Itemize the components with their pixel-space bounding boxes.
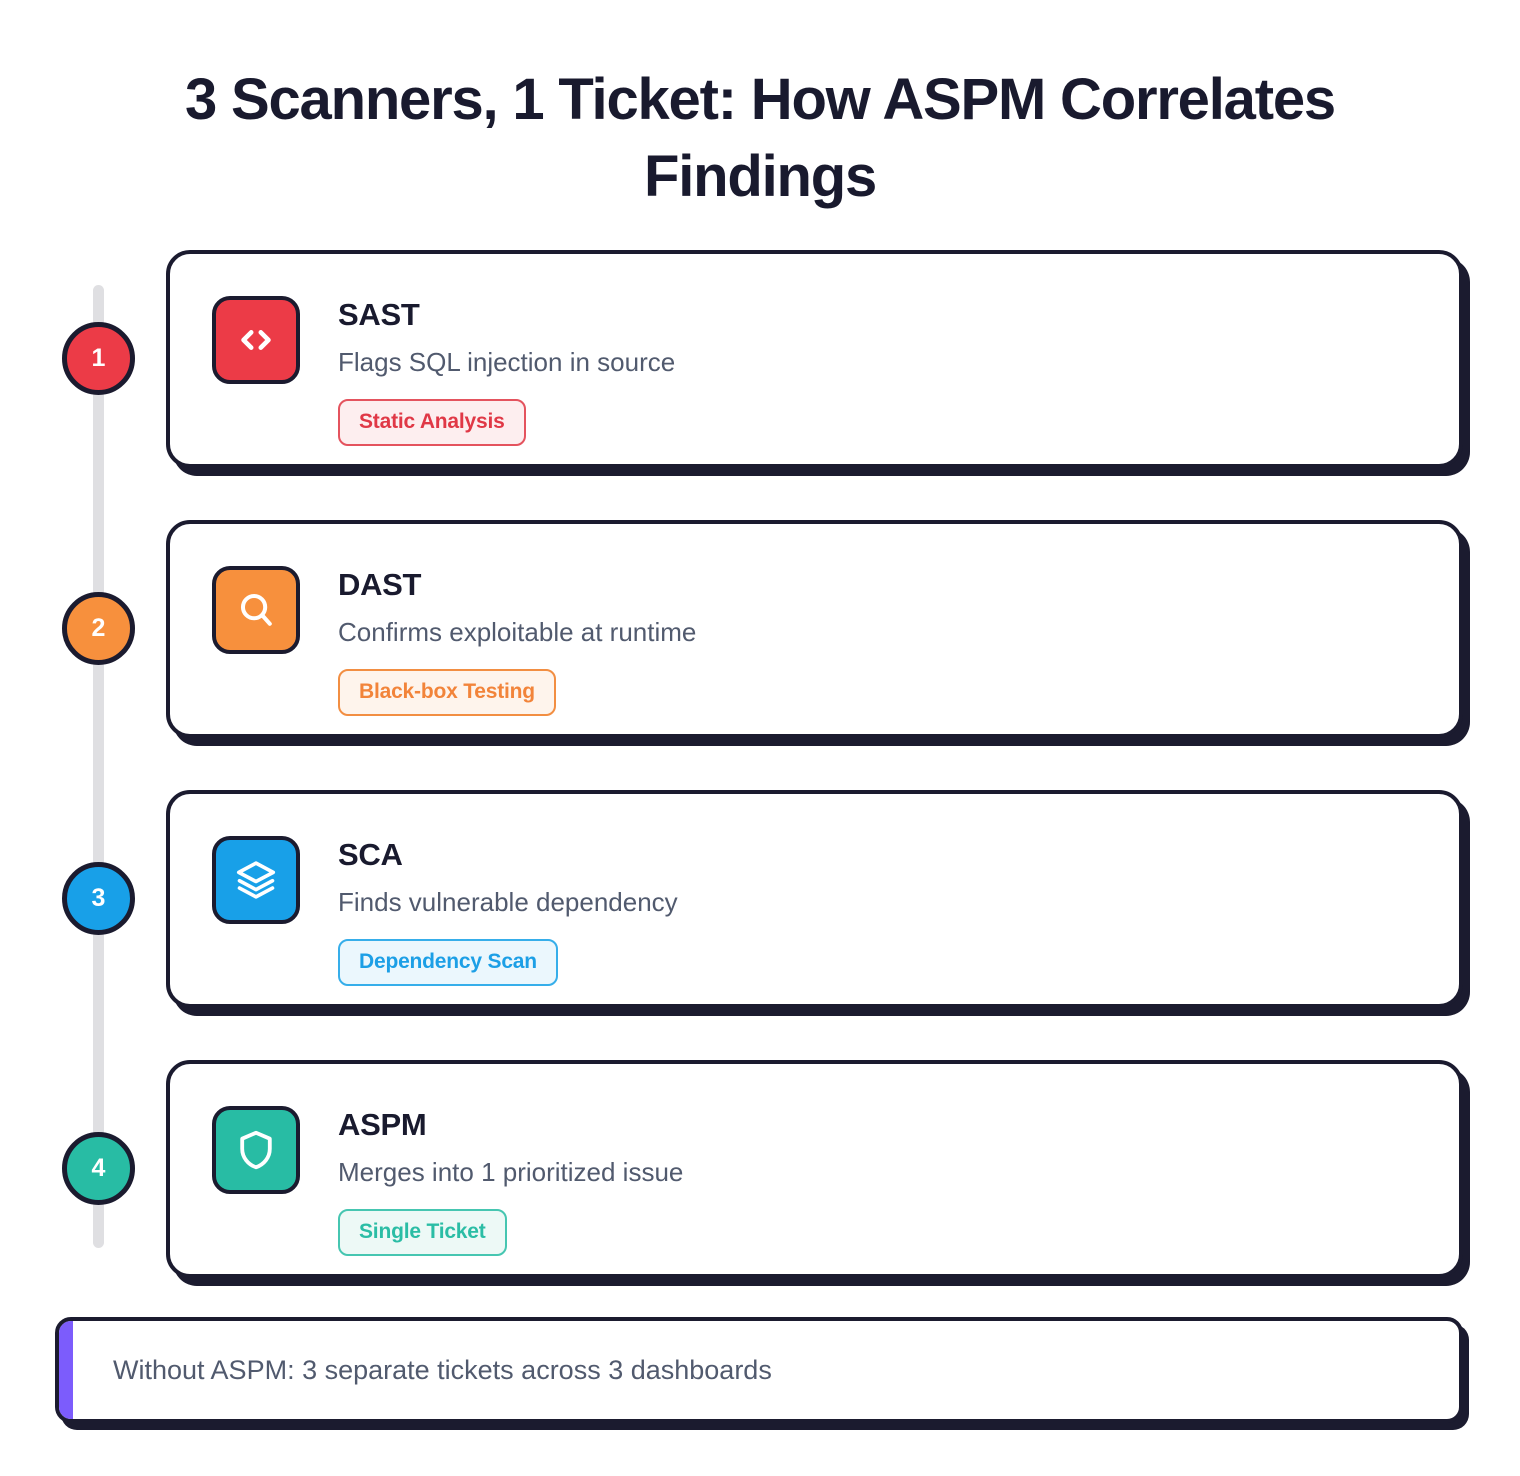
step-description: Confirms exploitable at runtime <box>338 616 696 649</box>
timeline-rail <box>93 285 104 1248</box>
footer-note-text: Without ASPM: 3 separate tickets across … <box>113 1355 772 1386</box>
step-title: ASPM <box>338 1108 683 1142</box>
step-tag: Single Ticket <box>338 1209 507 1256</box>
step-card-body: SAST Flags SQL injection in source Stati… <box>338 296 675 446</box>
code-brackets-icon <box>212 296 300 384</box>
magnifier-icon <box>212 566 300 654</box>
step-card-body: DAST Confirms exploitable at runtime Bla… <box>338 566 696 716</box>
step-tag: Black-box Testing <box>338 669 556 716</box>
step-card-dast[interactable]: DAST Confirms exploitable at runtime Bla… <box>166 520 1463 738</box>
step-title: DAST <box>338 568 696 602</box>
footer-accent-bar <box>59 1321 73 1419</box>
page-title: 3 Scanners, 1 Ticket: How ASPM Correlate… <box>110 62 1410 215</box>
step-card-body: SCA Finds vulnerable dependency Dependen… <box>338 836 678 986</box>
step-description: Flags SQL injection in source <box>338 346 675 379</box>
step-card-sast[interactable]: SAST Flags SQL injection in source Stati… <box>166 250 1463 468</box>
footer-note: Without ASPM: 3 separate tickets across … <box>55 1317 1463 1423</box>
step-card-body: ASPM Merges into 1 prioritized issue Sin… <box>338 1106 683 1256</box>
step-card-sca[interactable]: SCA Finds vulnerable dependency Dependen… <box>166 790 1463 1008</box>
step-badge-1: 1 <box>62 322 135 395</box>
step-badge-number: 3 <box>92 884 106 913</box>
step-title: SCA <box>338 838 678 872</box>
step-badge-4: 4 <box>62 1132 135 1205</box>
layers-icon <box>212 836 300 924</box>
step-badge-2: 2 <box>62 592 135 665</box>
step-badge-number: 2 <box>92 614 106 643</box>
step-badge-number: 4 <box>92 1154 106 1183</box>
step-card-aspm[interactable]: ASPM Merges into 1 prioritized issue Sin… <box>166 1060 1463 1278</box>
infographic-root: 3 Scanners, 1 Ticket: How ASPM Correlate… <box>0 0 1520 1476</box>
step-badge-number: 1 <box>92 344 106 373</box>
shield-icon <box>212 1106 300 1194</box>
step-description: Merges into 1 prioritized issue <box>338 1156 683 1189</box>
step-badge-3: 3 <box>62 862 135 935</box>
step-tag: Static Analysis <box>338 399 526 446</box>
step-title: SAST <box>338 298 675 332</box>
step-tag: Dependency Scan <box>338 939 558 986</box>
step-description: Finds vulnerable dependency <box>338 886 678 919</box>
